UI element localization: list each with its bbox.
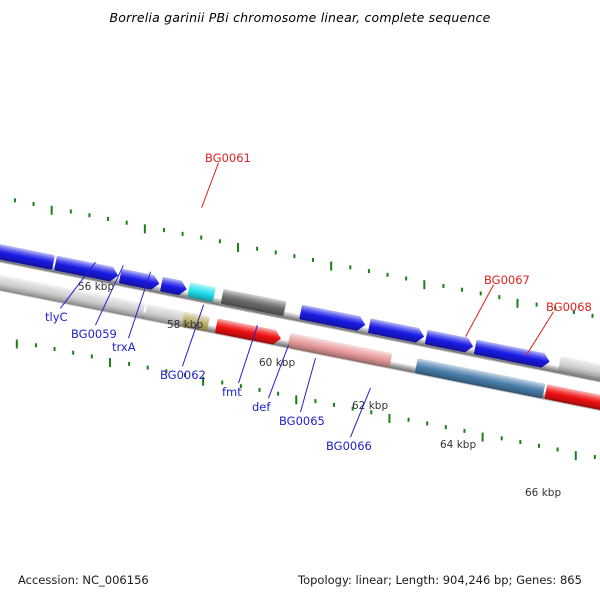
ruler-tick bbox=[519, 440, 521, 444]
ruler-tick bbox=[557, 448, 559, 452]
ruler-label: 66 kbp bbox=[525, 487, 561, 499]
ruler-tick bbox=[88, 213, 90, 217]
ruler-tick bbox=[423, 280, 425, 289]
ruler-tick bbox=[536, 303, 538, 307]
ruler-tick bbox=[128, 362, 130, 366]
ruler-tick bbox=[405, 277, 407, 281]
ruler-tick bbox=[51, 206, 53, 215]
ruler-tick bbox=[35, 343, 37, 347]
label-leader-line bbox=[201, 163, 219, 208]
ruler-tick bbox=[144, 224, 146, 233]
ruler-tick bbox=[333, 403, 335, 407]
ruler-tick bbox=[349, 265, 351, 269]
ruler-tick bbox=[16, 339, 18, 348]
gene-feature[interactable] bbox=[474, 339, 551, 369]
gene-label-trxa[interactable]: trxA bbox=[112, 340, 136, 354]
gene-feature-shading bbox=[558, 356, 600, 381]
ruler-tick bbox=[516, 299, 518, 308]
ruler-tick bbox=[219, 239, 221, 243]
ruler-tick bbox=[314, 399, 316, 403]
ruler-tick bbox=[221, 380, 223, 384]
ruler-tick bbox=[594, 455, 596, 459]
ruler-tick bbox=[480, 291, 482, 295]
gene-feature-shading bbox=[287, 333, 392, 368]
ruler-tick bbox=[147, 366, 149, 370]
ruler-tick bbox=[163, 228, 165, 232]
ruler-label: 60 kbp bbox=[259, 357, 295, 369]
gene-feature-shading bbox=[215, 318, 283, 346]
gene-feature[interactable] bbox=[544, 384, 600, 411]
gene-feature[interactable] bbox=[215, 318, 283, 346]
ruler-tick bbox=[54, 347, 56, 351]
ruler-tick bbox=[591, 314, 593, 318]
gene-feature[interactable] bbox=[0, 232, 55, 270]
gene-label-bg0065[interactable]: BG0065 bbox=[279, 414, 325, 428]
ruler-tick bbox=[330, 262, 332, 271]
ruler-tick bbox=[445, 425, 447, 429]
ruler-tick bbox=[72, 351, 74, 355]
gene-label-bg0061[interactable]: BG0061 bbox=[205, 151, 251, 165]
page-title: Borrelia garinii PBi chromosome linear, … bbox=[0, 10, 600, 25]
ruler-tick bbox=[293, 254, 295, 258]
ruler-tick bbox=[498, 295, 500, 299]
ruler-tick bbox=[33, 202, 35, 206]
ruler-tick bbox=[461, 288, 463, 292]
ruler-tick bbox=[91, 354, 93, 358]
footer-accession: Accession: NC_006156 bbox=[18, 573, 149, 587]
gene-feature-shading bbox=[0, 232, 55, 270]
footer-stats: Topology: linear; Length: 904,246 bp; Ge… bbox=[298, 573, 582, 587]
chromosome-map bbox=[0, 218, 600, 485]
gene-label-bg0066[interactable]: BG0066 bbox=[326, 439, 372, 453]
gene-label-fmt[interactable]: fmt bbox=[222, 385, 242, 399]
ruler-tick bbox=[388, 414, 390, 423]
ruler-tick bbox=[259, 388, 261, 392]
gene-label-bg0059[interactable]: BG0059 bbox=[71, 327, 117, 341]
ruler-tick bbox=[463, 429, 465, 433]
gene-label-bg0062[interactable]: BG0062 bbox=[160, 368, 206, 382]
gene-label-tlyc[interactable]: tlyC bbox=[45, 310, 68, 324]
ruler-tick bbox=[70, 210, 72, 214]
ruler-tick bbox=[277, 392, 279, 396]
ruler-label: 64 kbp bbox=[440, 439, 476, 451]
ruler-tick bbox=[387, 273, 389, 277]
ruler-tick bbox=[538, 444, 540, 448]
ruler-tick bbox=[426, 421, 428, 425]
ruler-tick bbox=[237, 243, 239, 252]
ruler-tick bbox=[295, 395, 297, 404]
gene-feature-shading bbox=[474, 339, 551, 369]
ruler-tick bbox=[182, 232, 184, 236]
gene-label-def[interactable]: def bbox=[252, 400, 270, 414]
ruler-tick bbox=[14, 198, 16, 202]
ruler-tick bbox=[126, 221, 128, 225]
ruler-tick bbox=[107, 217, 109, 221]
genome-viewer: Borrelia garinii PBi chromosome linear, … bbox=[0, 0, 600, 600]
ruler-tick bbox=[501, 436, 503, 440]
gene-feature[interactable] bbox=[558, 356, 600, 381]
ruler-tick bbox=[312, 258, 314, 262]
ruler-tick bbox=[256, 247, 258, 251]
ruler-tick bbox=[482, 433, 484, 442]
gene-label-bg0067[interactable]: BG0067 bbox=[484, 273, 530, 287]
gene-feature[interactable] bbox=[287, 333, 392, 368]
ruler-tick bbox=[275, 250, 277, 254]
ruler-tick bbox=[109, 358, 111, 367]
ruler-tick bbox=[575, 451, 577, 460]
ruler-label: 56 kbp bbox=[78, 281, 114, 293]
gene-feature-shading bbox=[544, 384, 600, 411]
ruler-tick bbox=[442, 284, 444, 288]
ruler-tick bbox=[200, 236, 202, 240]
ruler-tick bbox=[368, 269, 370, 273]
ruler-tick bbox=[408, 418, 410, 422]
ruler-label: 62 kbp bbox=[352, 400, 388, 412]
